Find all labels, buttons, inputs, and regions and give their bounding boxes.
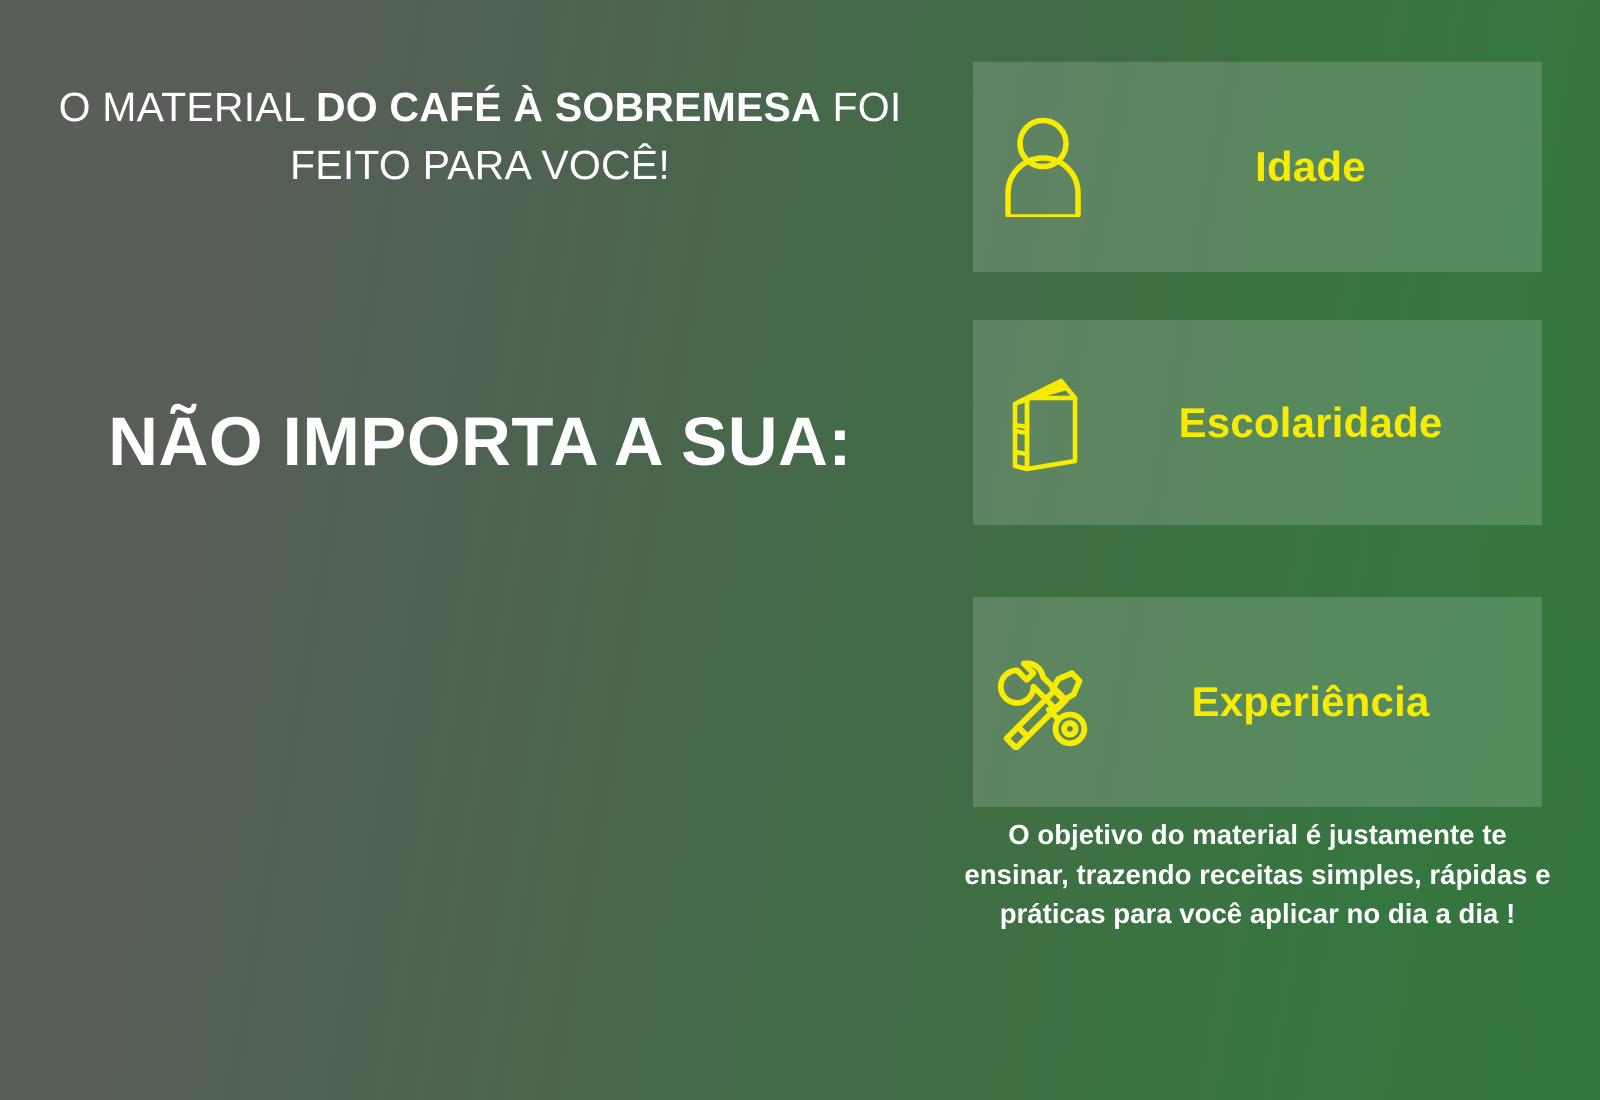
kicker-part-one: O MATERIAL: [59, 84, 316, 130]
attribute-label: Idade: [1113, 143, 1542, 191]
attribute-card-escolaridade: Escolaridade: [973, 320, 1542, 525]
right-column: Idade Escolari: [973, 0, 1542, 1100]
left-column: O MATERIAL DO CAFÉ À SOBREMESA FOI FEITO…: [0, 0, 955, 1100]
attribute-label: Escolaridade: [1113, 399, 1542, 447]
kicker-text: O MATERIAL DO CAFÉ À SOBREMESA FOI FEITO…: [40, 78, 920, 194]
attribute-card-idade: Idade: [973, 62, 1542, 272]
person-icon: [973, 117, 1113, 217]
attribute-label: Experiência: [1113, 678, 1542, 726]
slide-root: O MATERIAL DO CAFÉ À SOBREMESA FOI FEITO…: [0, 0, 1600, 1100]
kicker-strong: DO CAFÉ À SOBREMESA: [316, 84, 821, 130]
tools-icon: [973, 654, 1113, 750]
page-title: NÃO IMPORTA A SUA:: [40, 404, 920, 480]
attribute-card-experiencia: Experiência: [973, 597, 1542, 807]
book-icon: [973, 373, 1113, 473]
objective-note: O objetivo do material é justamente te e…: [963, 815, 1552, 934]
